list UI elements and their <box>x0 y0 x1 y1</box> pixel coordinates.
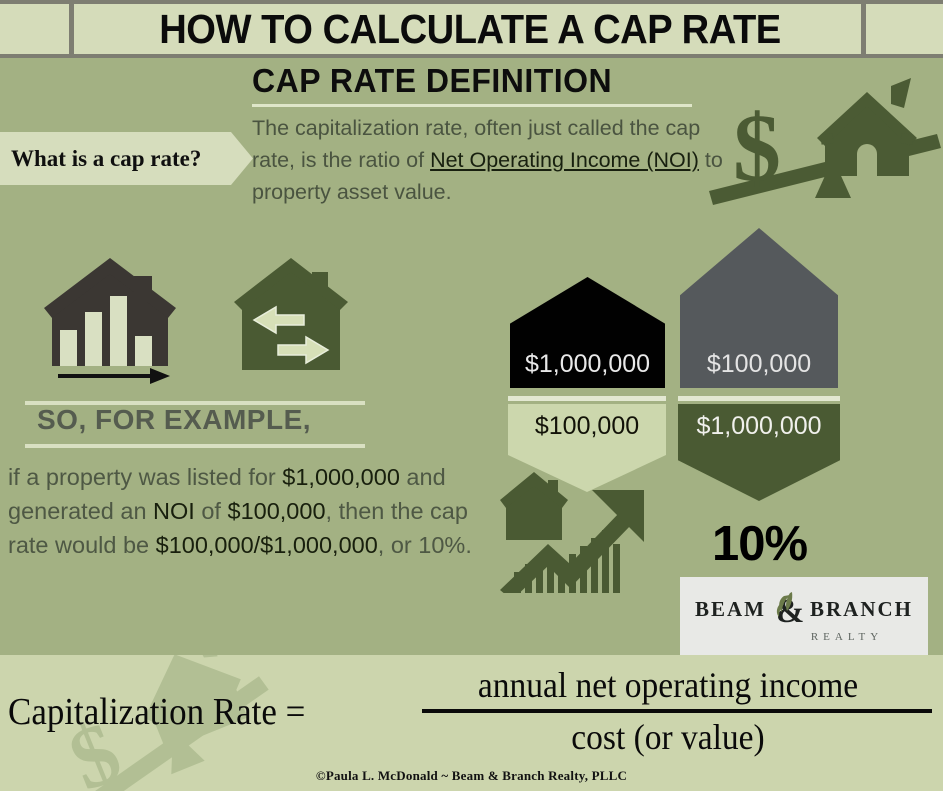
formula-numerator: annual net operating income <box>417 664 919 706</box>
formula-denominator: cost (or value) <box>417 716 919 758</box>
example-amount-price: $1,000,000 <box>282 464 400 490</box>
header-bar: HOW TO CALCULATE A CAP RATE <box>0 0 943 58</box>
header-right-cell <box>861 4 943 54</box>
copyright-notice: ©Paula L. McDonald ~ Beam & Branch Realt… <box>0 768 943 784</box>
example-rule-bottom <box>25 444 365 448</box>
example-line1-post: of <box>195 498 228 524</box>
definition-noi-emphasis: Net Operating Income (NOI) <box>430 148 699 172</box>
formula-fraction-bar <box>422 709 932 713</box>
house-growth-arrow-chart-icon <box>492 468 692 593</box>
house-right-denominator-label: $1,000,000 <box>696 404 821 441</box>
question-ribbon: What is a cap rate? <box>0 132 253 185</box>
house-left-denominator-label: $100,000 <box>535 404 639 441</box>
balance-scale-dollar-house-icon: $ <box>705 58 943 208</box>
definition-heading: CAP RATE DEFINITION <box>252 62 612 100</box>
svg-text:$: $ <box>733 94 781 201</box>
example-amount-noi: $100,000 <box>228 498 326 524</box>
question-ribbon-label: What is a cap rate? <box>0 146 201 172</box>
house-right-numerator-label: $100,000 <box>707 350 811 388</box>
header-left-cell <box>0 4 74 54</box>
definition-body: The capitalization rate, often just call… <box>252 112 744 208</box>
logo-wordmark-row: BEAM & BRANCH <box>695 590 913 630</box>
logo-subtitle: REALTY <box>725 631 883 643</box>
house-bar-chart-icon <box>38 258 183 398</box>
beam-branch-realty-logo: BEAM & BRANCH REALTY <box>680 577 928 655</box>
house-exchange-arrows-icon <box>232 258 350 383</box>
definition-underline-rule <box>252 104 692 107</box>
infographic-page: HOW TO CALCULATE A CAP RATE CAP RATE DEF… <box>0 0 943 791</box>
formula-fraction: annual net operating income cost (or val… <box>398 664 938 758</box>
example-ratio: $100,000/$1,000,000 <box>156 532 378 558</box>
house-right-denominator: $1,000,000 <box>678 404 840 501</box>
example-body: if a property was listed for $1,000,000 … <box>8 460 488 562</box>
example-heading: SO, FOR EXAMPLE, <box>37 404 311 436</box>
house-left-numerator: $1,000,000 <box>510 277 665 388</box>
logo-word-beam: BEAM <box>695 597 766 622</box>
house-right-numerator: $100,000 <box>680 228 838 388</box>
house-left-numerator-label: $1,000,000 <box>525 350 650 388</box>
example-noi-abbr: NOI <box>153 498 195 524</box>
fraction-bar-right <box>678 396 840 401</box>
cap-rate-result: 10% <box>712 516 807 572</box>
example-line2-post: , or 10%. <box>378 532 472 558</box>
page-title: HOW TO CALCULATE A CAP RATE <box>106 4 833 54</box>
ampersand-leaf-icon: & <box>768 590 808 630</box>
formula-label: Capitalization Rate = <box>8 690 305 734</box>
example-line1-pre: if a property was listed for <box>8 464 282 490</box>
fraction-bar-left <box>508 396 666 401</box>
logo-word-branch: BRANCH <box>810 597 913 622</box>
